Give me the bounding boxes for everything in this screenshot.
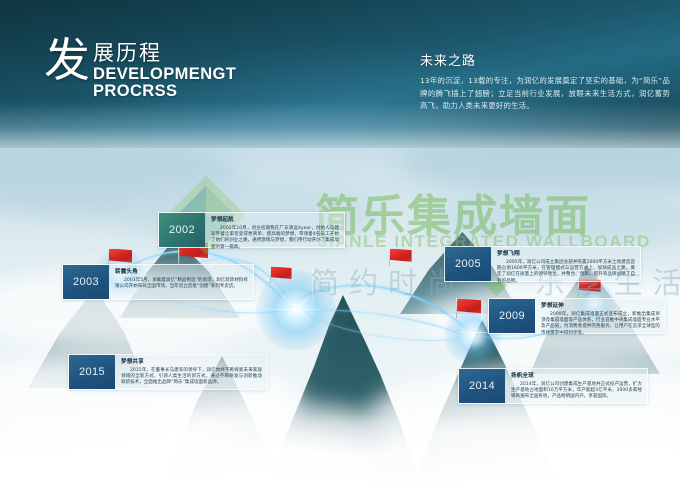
- timeline-year-2005: 2005: [445, 247, 491, 281]
- timeline-text: 2002年10月，创业初期我在广东清远4year，创始人马建军怀着让家装变得更简…: [211, 226, 339, 252]
- title-en-line1: DEVELOPMENGT: [93, 66, 236, 83]
- timeline-body: 崭露头角 2003年5月，承载着润亿“精品制造”的承诺，润亿装饰材料有限公司开始…: [109, 265, 253, 299]
- title-cn-first-char: 发: [44, 38, 89, 82]
- title-cn-rest: 展历程: [93, 41, 236, 65]
- timeline-title: 梦想共享: [121, 359, 262, 366]
- timeline-card-2002[interactable]: 2002 梦想起航 2002年10月，创业初期我在广东清远4year，创始人马建…: [158, 212, 345, 248]
- timeline-card-2009[interactable]: 2009 梦想延伸 2009年，润亿集成墙面正式宣布成立，新推出集成吊顶及集成墙…: [488, 298, 666, 334]
- timeline-title: 梦想延伸: [541, 303, 660, 310]
- intro-title: 未来之路: [420, 50, 670, 69]
- timeline-text: 2015年，在董事长马建军的领导下，润亿始终不断探索未来家居领域的全新方式，引领…: [121, 368, 262, 387]
- timeline-text: 2003年5月，承载着润亿“精品制造”的承诺，润亿装饰材料有限公司开始布局全国市…: [115, 278, 248, 291]
- timeline-year-2015: 2015: [69, 355, 115, 389]
- page-title: 发 展历程 DEVELOPMENGT PROCRSS: [44, 38, 236, 100]
- timeline-body: 梦想飞翔 2005年，润亿公司成立集团总部并购置2000平方米土地建造首期占地1…: [491, 247, 640, 281]
- timeline-card-2005[interactable]: 2005 梦想飞翔 2005年，润亿公司成立集团总部并购置2000平方米土地建造…: [444, 246, 641, 282]
- timeline-text: 2005年，润亿公司成立集团总部并购置2000平方米土地建造首期占地1600平方…: [497, 260, 635, 286]
- timeline-body: 扬帆全球 2014年，润亿公司创建集成生产基地并正式投产运营，扩大生产基地占地面…: [505, 369, 647, 403]
- timeline-year-2002: 2002: [159, 213, 205, 247]
- timeline-body: 梦想共享 2015年，在董事长马建军的领导下，润亿始终不断探索未来家居领域的全新…: [115, 355, 267, 389]
- timeline-card-2015[interactable]: 2015 梦想共享 2015年，在董事长马建军的领导下，润亿始终不断探索未来家居…: [68, 354, 268, 390]
- timeline-title: 梦想起航: [211, 217, 339, 224]
- timeline-card-2014[interactable]: 2014 扬帆全球 2014年，润亿公司创建集成生产基地并正式投产运营，扩大生产…: [458, 368, 648, 404]
- timeline-body: 梦想起航 2002年10月，创业初期我在广东清远4year，创始人马建军怀着让家…: [205, 213, 344, 247]
- poster-root: 简乐集成墙面 JIANLE INTEGRATED WALLBOARD 简约时尚 …: [0, 0, 680, 484]
- timeline-text: 2014年，润亿公司创建集成生产基地并正式投产运营，扩大生产基地占地面积10万平…: [511, 382, 642, 401]
- intro-block: 未来之路 13年的沉淀，13载的专注，为润亿的发展奠定了坚实的基础，为“简乐”品…: [420, 50, 670, 113]
- title-en-line2: PROCRSS: [93, 83, 236, 100]
- summit-ray: [312, 256, 313, 306]
- timeline-title: 崭露头角: [115, 269, 248, 276]
- timeline-year-2014: 2014: [459, 369, 505, 403]
- timeline-card-2003[interactable]: 2003 崭露头角 2003年5月，承载着润亿“精品制造”的承诺，润亿装饰材料有…: [62, 264, 254, 300]
- summit-ray: [278, 291, 316, 325]
- timeline-title: 梦想飞翔: [497, 251, 635, 258]
- timeline-text: 2009年，润亿集成墙面正式宣布成立，新推出集成吊顶及集成墙面等产品体系，行业首…: [541, 312, 660, 338]
- header-band: 发 展历程 DEVELOPMENGT PROCRSS 未来之路 13年的沉淀，1…: [0, 0, 680, 148]
- timeline-title: 扬帆全球: [511, 373, 642, 380]
- summit-ray: [278, 291, 316, 325]
- timeline-year-2003: 2003: [63, 265, 109, 299]
- timeline-year-2009: 2009: [489, 299, 535, 333]
- intro-body: 13年的沉淀，13载的专注，为润亿的发展奠定了坚实的基础，为“简乐”品牌的腾飞插…: [420, 75, 670, 113]
- timeline-body: 梦想延伸 2009年，润亿集成墙面正式宣布成立，新推出集成吊顶及集成墙面等产品体…: [535, 299, 665, 333]
